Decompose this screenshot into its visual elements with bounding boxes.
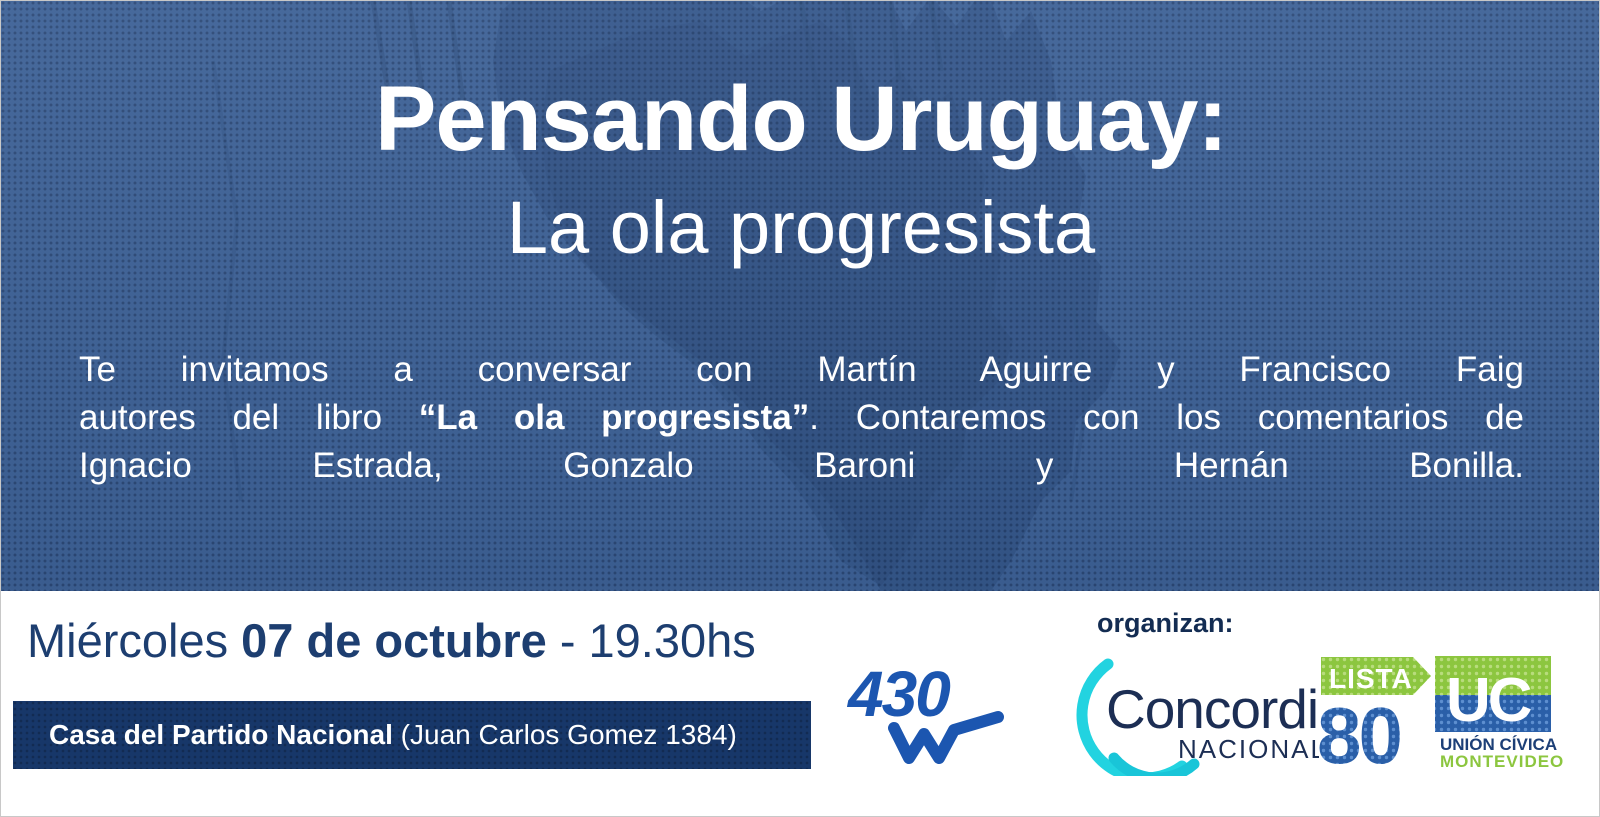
- organizer-logos: 430 Concordia NACIONAL: [846, 646, 1566, 776]
- body-line-2-post: . Contaremos con los comentarios de: [809, 398, 1524, 437]
- venue-address: (Juan Carlos Gomez 1384): [393, 719, 737, 750]
- svg-text:MONTEVIDEO: MONTEVIDEO: [1440, 752, 1564, 771]
- event-venue-bar: Casa del Partido Nacional (Juan Carlos G…: [13, 701, 811, 769]
- event-day-month: 07 de octubre: [241, 614, 547, 667]
- svg-text:430: 430: [846, 658, 950, 730]
- body-line-1: Te invitamos a conversar con Martín Agui…: [79, 346, 1524, 394]
- hero-section: Pensando Uruguay: La ola progresista Te …: [1, 1, 1600, 591]
- event-time: - 19.30hs: [547, 614, 756, 667]
- logo-union-civica-montevideo-icon: UC UNIÓN CÍVICA MONTEVIDEO: [1424, 649, 1564, 771]
- event-venue-text: Casa del Partido Nacional (Juan Carlos G…: [49, 701, 737, 769]
- venue-name: Casa del Partido Nacional: [49, 719, 393, 750]
- footer-section: Miércoles 07 de octubre - 19.30hs Casa d…: [1, 591, 1600, 817]
- poster-title-main: Pensando Uruguay:: [1, 73, 1600, 165]
- svg-text:LISTA: LISTA: [1329, 663, 1413, 694]
- svg-text:80: 80: [1317, 691, 1400, 771]
- logo-430w-icon: 430: [846, 654, 1031, 764]
- logo-lista-80-icon: LISTA 80: [1313, 649, 1433, 771]
- svg-text:Concordia: Concordia: [1106, 678, 1319, 740]
- poster-title-subtitle: La ola progresista: [1, 191, 1600, 265]
- event-poster: Pensando Uruguay: La ola progresista Te …: [0, 0, 1600, 817]
- organizers-label: organizan:: [1097, 608, 1234, 639]
- body-line-2-pre: autores del libro: [79, 398, 419, 437]
- svg-text:UC: UC: [1446, 666, 1532, 735]
- book-title-emphasis: “La ola progresista”: [419, 398, 810, 437]
- body-line-3: Ignacio Estrada, Gonzalo Baroni y Hernán…: [79, 442, 1524, 490]
- logo-concordia-nacional-icon: Concordia NACIONAL: [1044, 646, 1319, 776]
- poster-body-copy: Te invitamos a conversar con Martín Agui…: [79, 346, 1524, 490]
- event-weekday: Miércoles: [27, 614, 241, 667]
- event-date-line: Miércoles 07 de octubre - 19.30hs: [27, 617, 756, 664]
- svg-text:NACIONAL: NACIONAL: [1178, 734, 1319, 764]
